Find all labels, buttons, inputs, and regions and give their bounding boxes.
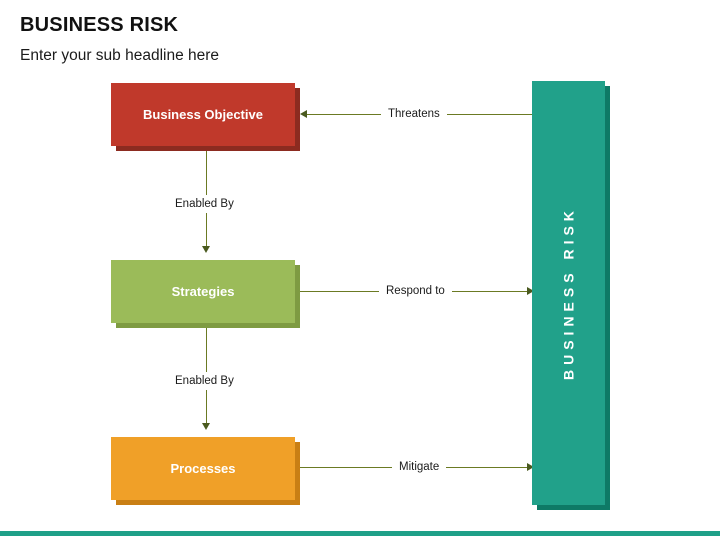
edge-label-enabled-by-2: Enabled By bbox=[169, 372, 240, 390]
node-business-risk-label: BUSINESS RISK bbox=[532, 81, 605, 505]
footer-accent-rule bbox=[0, 531, 720, 536]
edge-label-enabled-by-1: Enabled By bbox=[169, 195, 240, 213]
node-processes-face bbox=[111, 437, 295, 500]
node-business-risk-bar[interactable]: BUSINESS RISK bbox=[532, 81, 605, 505]
node-business-objective[interactable]: Business Objective bbox=[111, 83, 295, 146]
edge-label-mitigate: Mitigate bbox=[392, 460, 446, 474]
slide-canvas: BUSINESS RISK Enter your sub headline he… bbox=[0, 0, 720, 540]
connector-strategies-to-processes-arrowhead bbox=[202, 423, 210, 430]
page-subtitle: Enter your sub headline here bbox=[20, 47, 219, 65]
node-strategies-face bbox=[111, 260, 295, 323]
page-title: BUSINESS RISK bbox=[20, 14, 178, 37]
node-business-objective-face bbox=[111, 83, 295, 146]
edge-label-threatens: Threatens bbox=[381, 107, 447, 121]
connector-objective-to-strategies-arrowhead bbox=[202, 246, 210, 253]
node-processes[interactable]: Processes bbox=[111, 437, 295, 500]
node-strategies[interactable]: Strategies bbox=[111, 260, 295, 323]
connector-threatens-arrowhead bbox=[300, 110, 307, 118]
edge-label-respond-to: Respond to bbox=[379, 284, 452, 298]
